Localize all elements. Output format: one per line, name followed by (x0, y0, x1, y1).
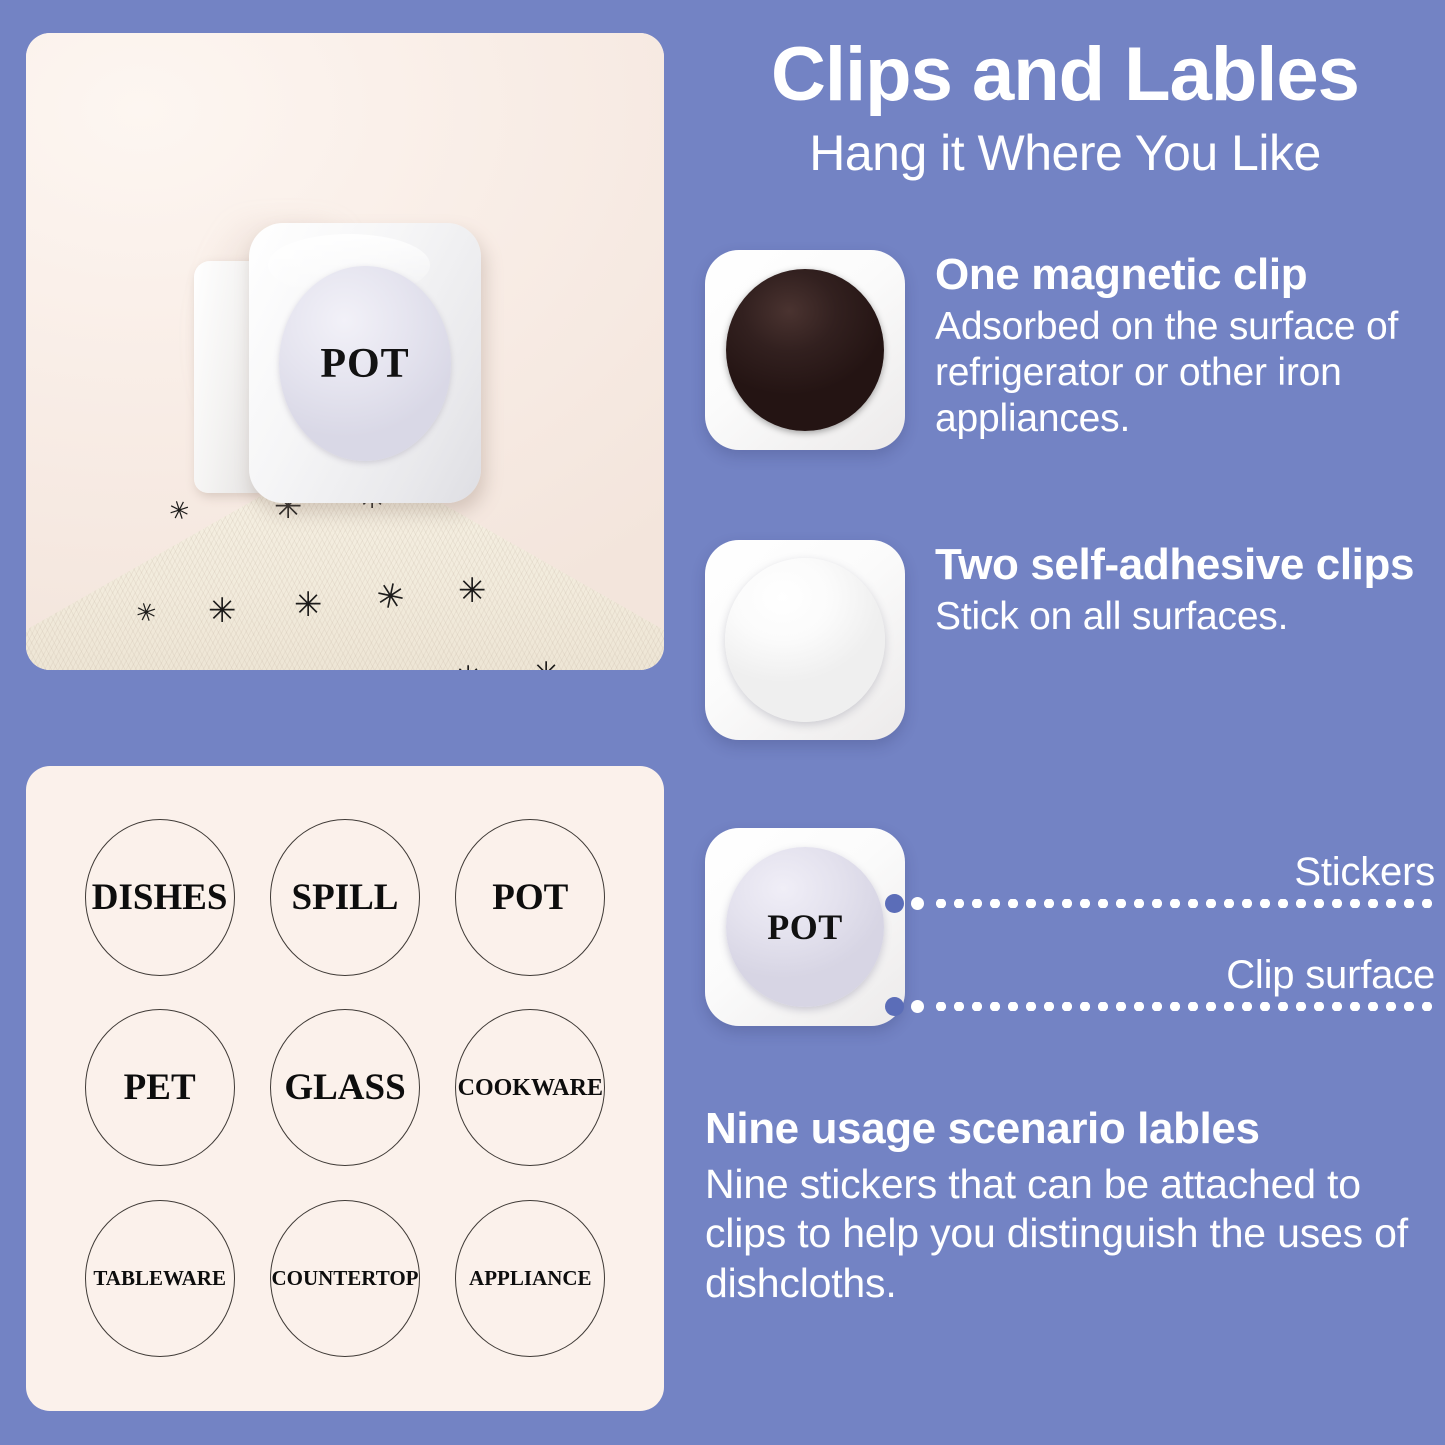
feature-text: Two self-adhesive clips Stick on all sur… (935, 540, 1414, 640)
hero-product-photo-card: ✳ ✳ ✳ ✳ ✳ ✳ ✳ ✳ ✳ ✳ ✳ ✳ ✳ POT (26, 33, 664, 670)
sticker-label: POT (492, 879, 568, 916)
leader-anchor-dot-icon (885, 894, 904, 913)
leader-dot-icon (911, 897, 924, 910)
sticker-item: TABLEWARE (72, 1189, 247, 1368)
feature-nine-labels: Nine usage scenario lables Nine stickers… (705, 1106, 1425, 1308)
sticker-label: DISHES (92, 879, 228, 916)
headline-block: Clips and Lables Hang it Where You Like (705, 36, 1425, 180)
sticker-circle-pot: POT (455, 819, 605, 976)
sticker-circle-tableware: TABLEWARE (85, 1200, 235, 1357)
leader-line-clip-surface (885, 998, 1435, 1014)
sticker-circle-pet: PET (85, 1009, 235, 1166)
sticker-circle-cookware: COOKWARE (455, 1009, 605, 1166)
leader-line-stickers (885, 895, 1435, 911)
callout-clip-surface: Clip surface (885, 953, 1435, 1014)
leader-anchor-dot-icon (885, 997, 904, 1016)
magnet-disc-icon (726, 269, 884, 431)
snowflake-motif-icon: ✳ (294, 588, 323, 622)
pot-sticker-label: POT (767, 906, 843, 948)
sticker-sheet-card: DISHES SPILL POT PET GLASS (26, 766, 664, 1411)
sticker-label: PET (124, 1069, 196, 1106)
snowflake-motif-icon: ✳ (458, 574, 487, 608)
callout-stickers: Stickers (885, 850, 1435, 911)
sticker-item: PET (72, 999, 247, 1178)
pot-sticker-icon: POT (726, 847, 884, 1007)
sticker-item: APPLIANCE (443, 1189, 618, 1368)
feature-body: Adsorbed on the surface of refrigerator … (935, 304, 1445, 442)
adhesive-clip-thumbnail (705, 540, 905, 740)
leader-dotted-line (932, 899, 1435, 908)
sticker-circle-glass: GLASS (270, 1009, 420, 1166)
sticker-label: TABLEWARE (93, 1268, 226, 1289)
feature-body: Stick on all surfaces. (935, 594, 1414, 640)
snowflake-motif-icon: ✳ (454, 662, 483, 670)
sticker-label: COUNTERTOP (271, 1268, 418, 1289)
sticker-label: SPILL (292, 879, 399, 916)
sticker-circle-countertop: COUNTERTOP (270, 1200, 420, 1357)
callout-label: Clip surface (885, 953, 1435, 998)
sticker-label: GLASS (284, 1069, 405, 1106)
sticker-circle-appliance: APPLIANCE (455, 1200, 605, 1357)
page-title: Clips and Lables (705, 36, 1425, 114)
sticker-label: COOKWARE (458, 1076, 603, 1100)
callout-label: Stickers (885, 850, 1435, 895)
sticker-on-clip-thumbnail: POT (705, 828, 905, 1026)
sticker-circle-spill: SPILL (270, 819, 420, 976)
clip-sticker-label: POT (320, 340, 409, 388)
snowflake-motif-icon: ✳ (208, 594, 237, 628)
feature-title: Two self-adhesive clips (935, 542, 1414, 588)
feature-title: Nine usage scenario lables (705, 1106, 1425, 1152)
adhesive-disc-icon (725, 558, 885, 722)
sticker-grid: DISHES SPILL POT PET GLASS (72, 808, 618, 1368)
sticker-item: SPILL (257, 808, 432, 987)
sticker-circle-dishes: DISHES (85, 819, 235, 976)
feature-text: One magnetic clip Adsorbed on the surfac… (935, 250, 1445, 442)
sticker-item: COOKWARE (443, 999, 618, 1178)
snowflake-motif-icon: ✳ (374, 668, 403, 670)
feature-title: One magnetic clip (935, 252, 1445, 298)
feature-self-adhesive-clips: Two self-adhesive clips Stick on all sur… (705, 540, 1414, 740)
feature-magnetic-clip: One magnetic clip Adsorbed on the surfac… (705, 250, 1445, 450)
sticker-item: DISHES (72, 808, 247, 987)
sticker-item: COUNTERTOP (257, 1189, 432, 1368)
snowflake-motif-icon: ✳ (166, 495, 194, 525)
magnetic-clip-thumbnail (705, 250, 905, 450)
callout-block: POT Stickers Clip surface (705, 828, 1435, 1038)
sticker-label: APPLIANCE (469, 1268, 592, 1289)
leader-dot-icon (911, 1000, 924, 1013)
sticker-item: GLASS (257, 999, 432, 1178)
page-subtitle: Hang it Where You Like (705, 126, 1425, 180)
infographic-canvas: ✳ ✳ ✳ ✳ ✳ ✳ ✳ ✳ ✳ ✳ ✳ ✳ ✳ POT DISHES (0, 0, 1445, 1445)
snowflake-motif-icon: ✳ (532, 658, 561, 670)
clip-sticker-pot: POT (279, 266, 451, 461)
feature-body: Nine stickers that can be attached to cl… (705, 1160, 1425, 1308)
sticker-item: POT (443, 808, 618, 987)
leader-dotted-line (932, 1002, 1435, 1011)
